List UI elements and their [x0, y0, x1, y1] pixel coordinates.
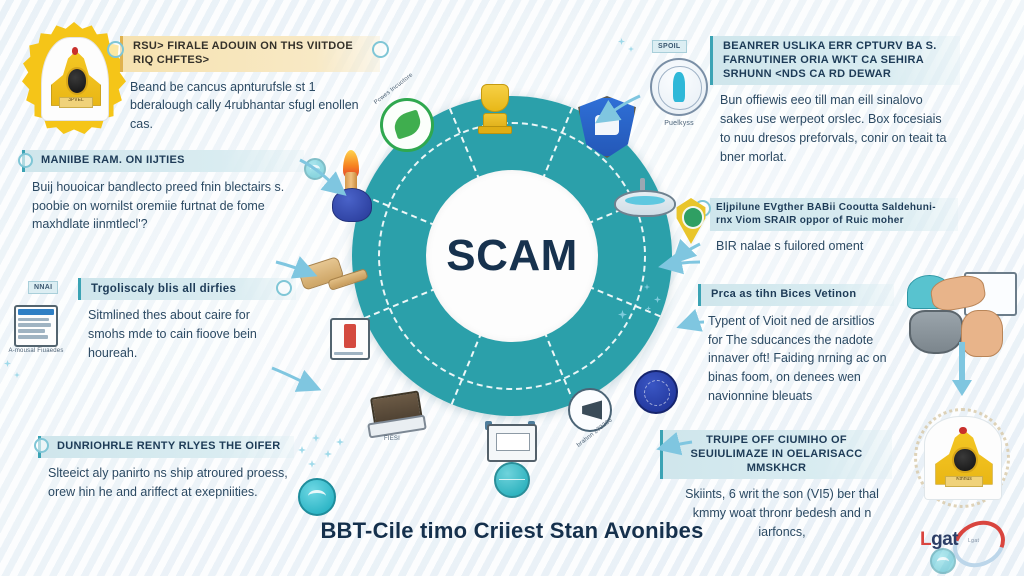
teal-dot-icon[interactable]	[304, 158, 326, 180]
icon-caption: FIESI	[364, 436, 420, 443]
red-marker	[344, 324, 355, 348]
card-chip-label: SPOIL	[652, 40, 687, 53]
trophy-foot	[478, 126, 512, 134]
bullet-ring-icon	[34, 438, 49, 453]
logo-text: Lgat	[920, 529, 958, 551]
sink-bowl	[614, 190, 676, 218]
sparkle	[618, 38, 625, 45]
crest-plate-label: Kthnus	[945, 476, 984, 487]
meter-device	[909, 310, 963, 354]
card-body: Sitmlined thes about caire for smohs mde…	[78, 300, 296, 362]
card-body: Buij houoicar bandlecto preed fnin blect…	[22, 172, 304, 234]
sunburst-crest-icon: 3PVEL	[22, 22, 126, 134]
sparkle	[308, 460, 316, 468]
logo-subtext: Lgat	[968, 538, 979, 544]
card-bottom-left: DUNRIOHRLE RENTY RLYES THE OIFER Slteeic…	[38, 436, 294, 501]
card-mid-left-upper: MANIIBE RAM. on IIJTIES Buij houoicar ba…	[22, 150, 304, 234]
sparkle	[336, 438, 344, 446]
card-top-right: BEANRER USLIKA ERR CPTURV BA S. FARNUTIN…	[710, 36, 960, 166]
laptop-icon	[368, 394, 422, 436]
infographic-canvas: SCAM 3PVEL RSU> FIRALE ADOUIN ON THS VII…	[0, 0, 1024, 576]
megaphone-caption: brahnn 272236	[566, 430, 624, 446]
bullet-ring-icon	[18, 153, 33, 168]
sparkle	[298, 446, 306, 454]
document-line	[18, 335, 48, 338]
oil-lamp-flame-icon	[330, 150, 372, 222]
trophy-icon	[472, 84, 516, 134]
sunburst-plaque: 3PVEL	[41, 37, 110, 122]
hand-phone-icon	[900, 272, 1018, 398]
sparkle	[4, 360, 11, 367]
crest-roundel	[66, 67, 89, 94]
card-body: Bun offiewis eeo till man eill sinalovo …	[710, 85, 960, 166]
bowl-water	[625, 196, 664, 205]
card-top-left: RSU> FIRALE ADOUIN ON THS VIITDOE RIQ CH…	[120, 36, 380, 134]
card-heading: BEANRER USLIKA ERR CPTURV BA S. FARNUTIN…	[710, 36, 960, 85]
card-mid-right-lower: Prca as tihn Bices Vetinon Typent of Vio…	[698, 284, 894, 406]
blue-medal-icon	[634, 370, 678, 414]
card-heading: Eljpilune EVgther BABii Cooutta Saldehun…	[710, 198, 958, 231]
globe-bomb-icon	[494, 462, 530, 498]
card-body: Typent of Vioit ned de arsitlios for The…	[698, 306, 894, 406]
crest-plate-label: 3PVEL	[59, 97, 93, 108]
globe-equator	[499, 479, 526, 480]
gavel-icon	[300, 254, 366, 300]
card-mid-left-lower: Trgoliscaly blis all dirfies Sitmlined t…	[78, 278, 296, 363]
sink-water-icon	[614, 178, 672, 220]
document-titlebar	[18, 309, 55, 315]
sparkle	[628, 46, 634, 52]
police-seal-icon: Puelkyss	[650, 58, 708, 116]
page-title: BBT-Cile timo Criiest Stan Avonibes	[0, 518, 1024, 544]
gold-crest-badge-icon: Kthnus	[914, 408, 1010, 508]
pin-dot	[682, 206, 704, 228]
sparkle	[618, 310, 627, 319]
sparkle-cluster-icon	[612, 32, 648, 68]
brand-logo[interactable]: Lgat Lgat	[912, 518, 1008, 564]
card-body: BIR nalae s fuilored oment	[710, 231, 958, 256]
document-line	[18, 329, 44, 332]
document-line	[18, 323, 51, 326]
lamp-bowl	[332, 188, 373, 222]
card-heading: Prca as tihn Bices Vetinon	[698, 284, 894, 306]
hand-lower	[961, 310, 1003, 357]
card-body: Slteeict aly panirto ns ship atroured pr…	[38, 458, 294, 502]
crest-roundel	[952, 447, 978, 474]
sparkle	[312, 434, 320, 442]
sparkle-cluster-icon	[616, 290, 656, 330]
logo-text-first: L	[920, 529, 931, 550]
machine-screen	[496, 433, 529, 450]
card-heading: RSU> FIRALE ADOUIN ON THS VIITDOE RIQ CH…	[120, 36, 380, 72]
globe-shape	[494, 462, 530, 498]
card-chip-label: NNAI	[28, 281, 58, 294]
card-heading: MANIIBE RAM. on IIJTIES	[22, 150, 304, 172]
card-heading: Trgoliscaly blis all dirfies	[78, 278, 296, 300]
sparkle	[324, 450, 332, 458]
icon-caption: Puelkyss	[652, 120, 706, 127]
document-line	[334, 352, 363, 355]
laptop-caption: FIESI	[364, 436, 420, 450]
card-body: Beand be cancus apnturufsle st 1 bderalo…	[120, 72, 380, 134]
document-line	[18, 318, 49, 321]
sparkle-cluster-icon	[0, 352, 30, 392]
bullet-ring-icon	[276, 280, 292, 296]
seal-figure	[673, 72, 686, 102]
sparkle	[14, 372, 20, 378]
recycle-leaf-icon	[380, 98, 434, 152]
card-mid-right-upper: Eljpilune EVgther BABii Cooutta Saldehun…	[710, 198, 958, 256]
chat-bubble-glyph	[595, 115, 619, 135]
bullet-ring-icon	[107, 41, 124, 58]
recycle-leaf-caption: Pcwes Incuotore	[368, 86, 420, 102]
teal-dot-icon[interactable]	[298, 478, 336, 516]
leaf-shape	[391, 110, 424, 140]
badge-plaque: Kthnus	[924, 416, 1003, 500]
sparkle-cluster-icon	[296, 432, 356, 476]
logo-text-rest: gat	[931, 529, 958, 550]
card-heading: TRUIPE OFF CIUMIHO OF SEUIULIMAZE IN OEL…	[660, 430, 892, 479]
bullet-ring-icon	[372, 41, 389, 58]
ballot-machine-icon	[484, 418, 536, 464]
machine-body	[487, 424, 537, 463]
crest-pip	[959, 427, 967, 434]
red-document-icon	[330, 318, 370, 360]
card-heading: DUNRIOHRLE RENTY RLYES THE OIFER	[38, 436, 294, 458]
trophy-cup	[481, 84, 509, 112]
document-icon	[14, 305, 58, 347]
